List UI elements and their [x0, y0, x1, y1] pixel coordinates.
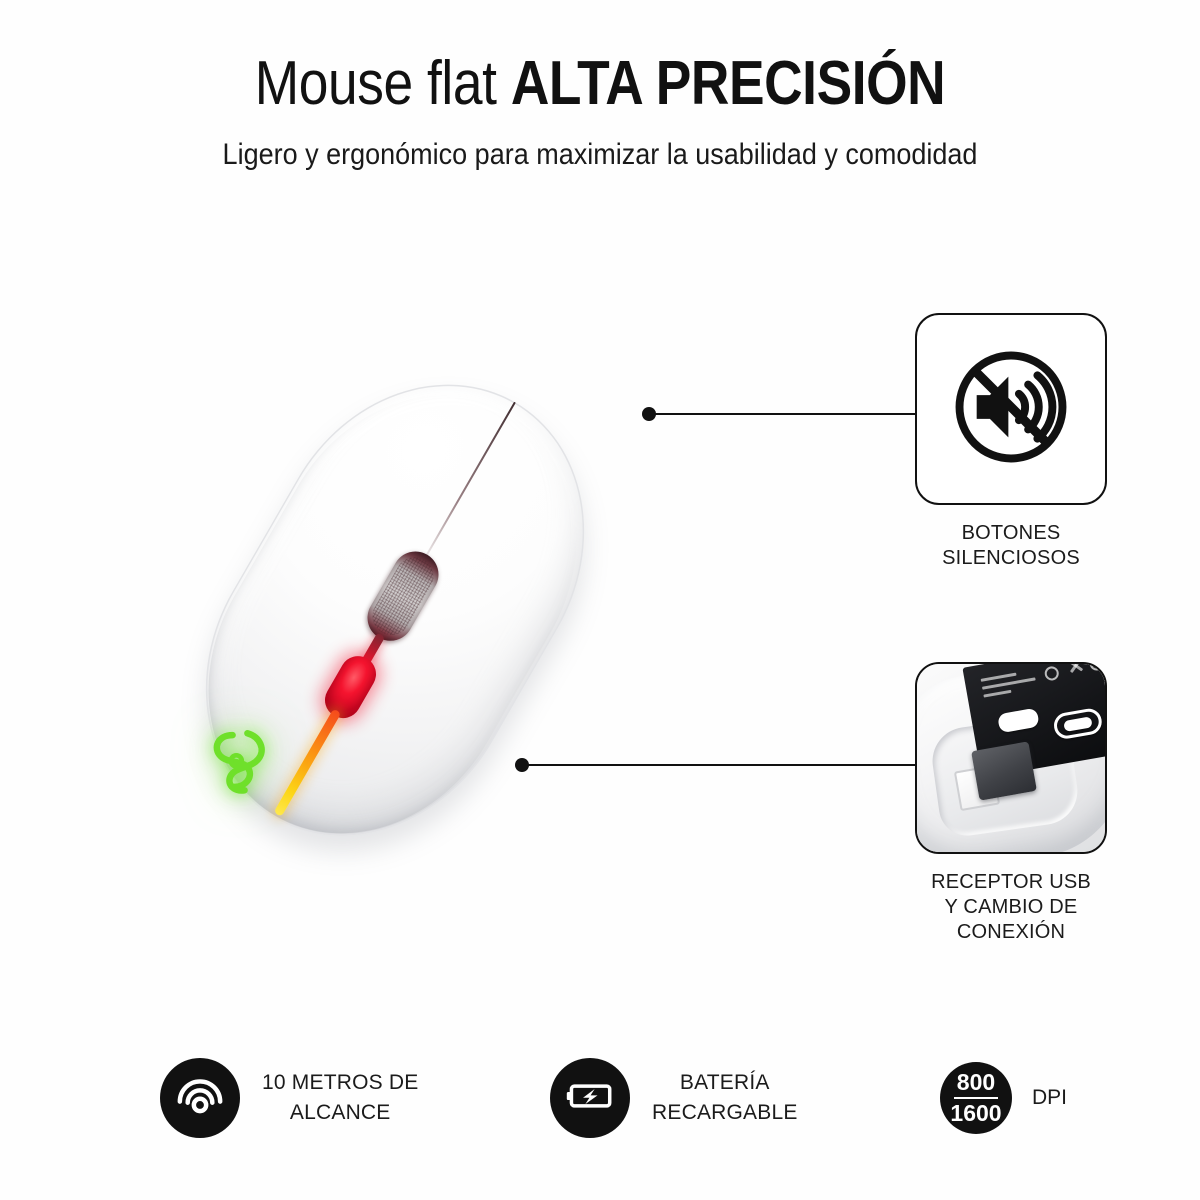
caption-line-1: RECEPTOR USB — [915, 870, 1107, 895]
caption-line-1: BOTONES — [915, 521, 1107, 546]
regulatory-mark — [1089, 662, 1105, 672]
feature-icon-circle-battery — [550, 1058, 630, 1138]
dpi-badge-icon: 800 1600 — [950, 1071, 1001, 1126]
regulatory-mark — [1044, 665, 1060, 681]
usb-dongle-body — [971, 741, 1037, 800]
feature-battery: BATERÍA RECARGABLE — [550, 1058, 798, 1138]
feature-label-dpi: DPI — [1032, 1086, 1067, 1110]
page-subtitle: Ligero y ergonómico para maximizar la us… — [60, 136, 1140, 174]
connector-line-bottom — [525, 764, 917, 766]
usb-receiver-photo — [917, 664, 1105, 852]
battery-charging-icon — [561, 1067, 619, 1130]
callout-card-usb-receiver — [915, 662, 1107, 854]
feature-dpi: 800 1600 DPI — [940, 1062, 1067, 1134]
callout-card-silent-buttons — [915, 313, 1107, 505]
feature-label-range: 10 METROS DE ALCANCE — [262, 1068, 418, 1128]
caption-line-2: Y CAMBIO DE — [915, 895, 1107, 920]
title-bold-part: ALTA PRECISIÓN — [511, 49, 945, 118]
feature-range: 10 METROS DE ALCANCE — [160, 1058, 418, 1138]
product-hero-image — [150, 300, 750, 920]
mouse-illustration — [145, 327, 645, 893]
feature-label-battery: BATERÍA RECARGABLE — [652, 1068, 798, 1128]
header: Mouse flat ALTA PRECISIÓN Ligero y ergon… — [0, 48, 1200, 174]
mute-speaker-icon — [945, 341, 1077, 478]
callout-usb-receiver: RECEPTOR USB Y CAMBIO DE CONEXIÓN — [915, 662, 1107, 945]
wireless-signal-icon — [172, 1068, 228, 1129]
label-text-line — [983, 690, 1011, 698]
callout-caption-usb-receiver: RECEPTOR USB Y CAMBIO DE CONEXIÓN — [915, 870, 1107, 945]
title-light-part: Mouse flat — [255, 49, 511, 118]
feature-line-2: ALCANCE — [262, 1098, 418, 1128]
dpi-divider — [954, 1097, 997, 1099]
feature-line-2: RECARGABLE — [652, 1098, 798, 1128]
brand-logo-icon — [188, 715, 284, 807]
feature-line-1: BATERÍA — [652, 1068, 798, 1098]
feature-icon-circle-dpi: 800 1600 — [940, 1062, 1012, 1134]
power-switch — [997, 708, 1040, 734]
dpi-value-low: 800 — [950, 1071, 1001, 1094]
callout-caption-silent-buttons: BOTONES SILENCIOSOS — [915, 521, 1107, 571]
dpi-value-high: 1600 — [950, 1102, 1001, 1125]
feature-icon-circle-range — [160, 1058, 240, 1138]
caption-line-2: SILENCIOSOS — [915, 546, 1107, 571]
feature-line-1: 10 METROS DE — [262, 1068, 418, 1098]
page-title: Mouse flat ALTA PRECISIÓN — [84, 48, 1116, 120]
callout-silent-buttons: BOTONES SILENCIOSOS — [915, 313, 1107, 571]
connector-line-top — [652, 413, 917, 415]
infographic-page: Mouse flat ALTA PRECISIÓN Ligero y ergon… — [0, 0, 1200, 1200]
caption-line-3: CONEXIÓN — [915, 920, 1107, 945]
